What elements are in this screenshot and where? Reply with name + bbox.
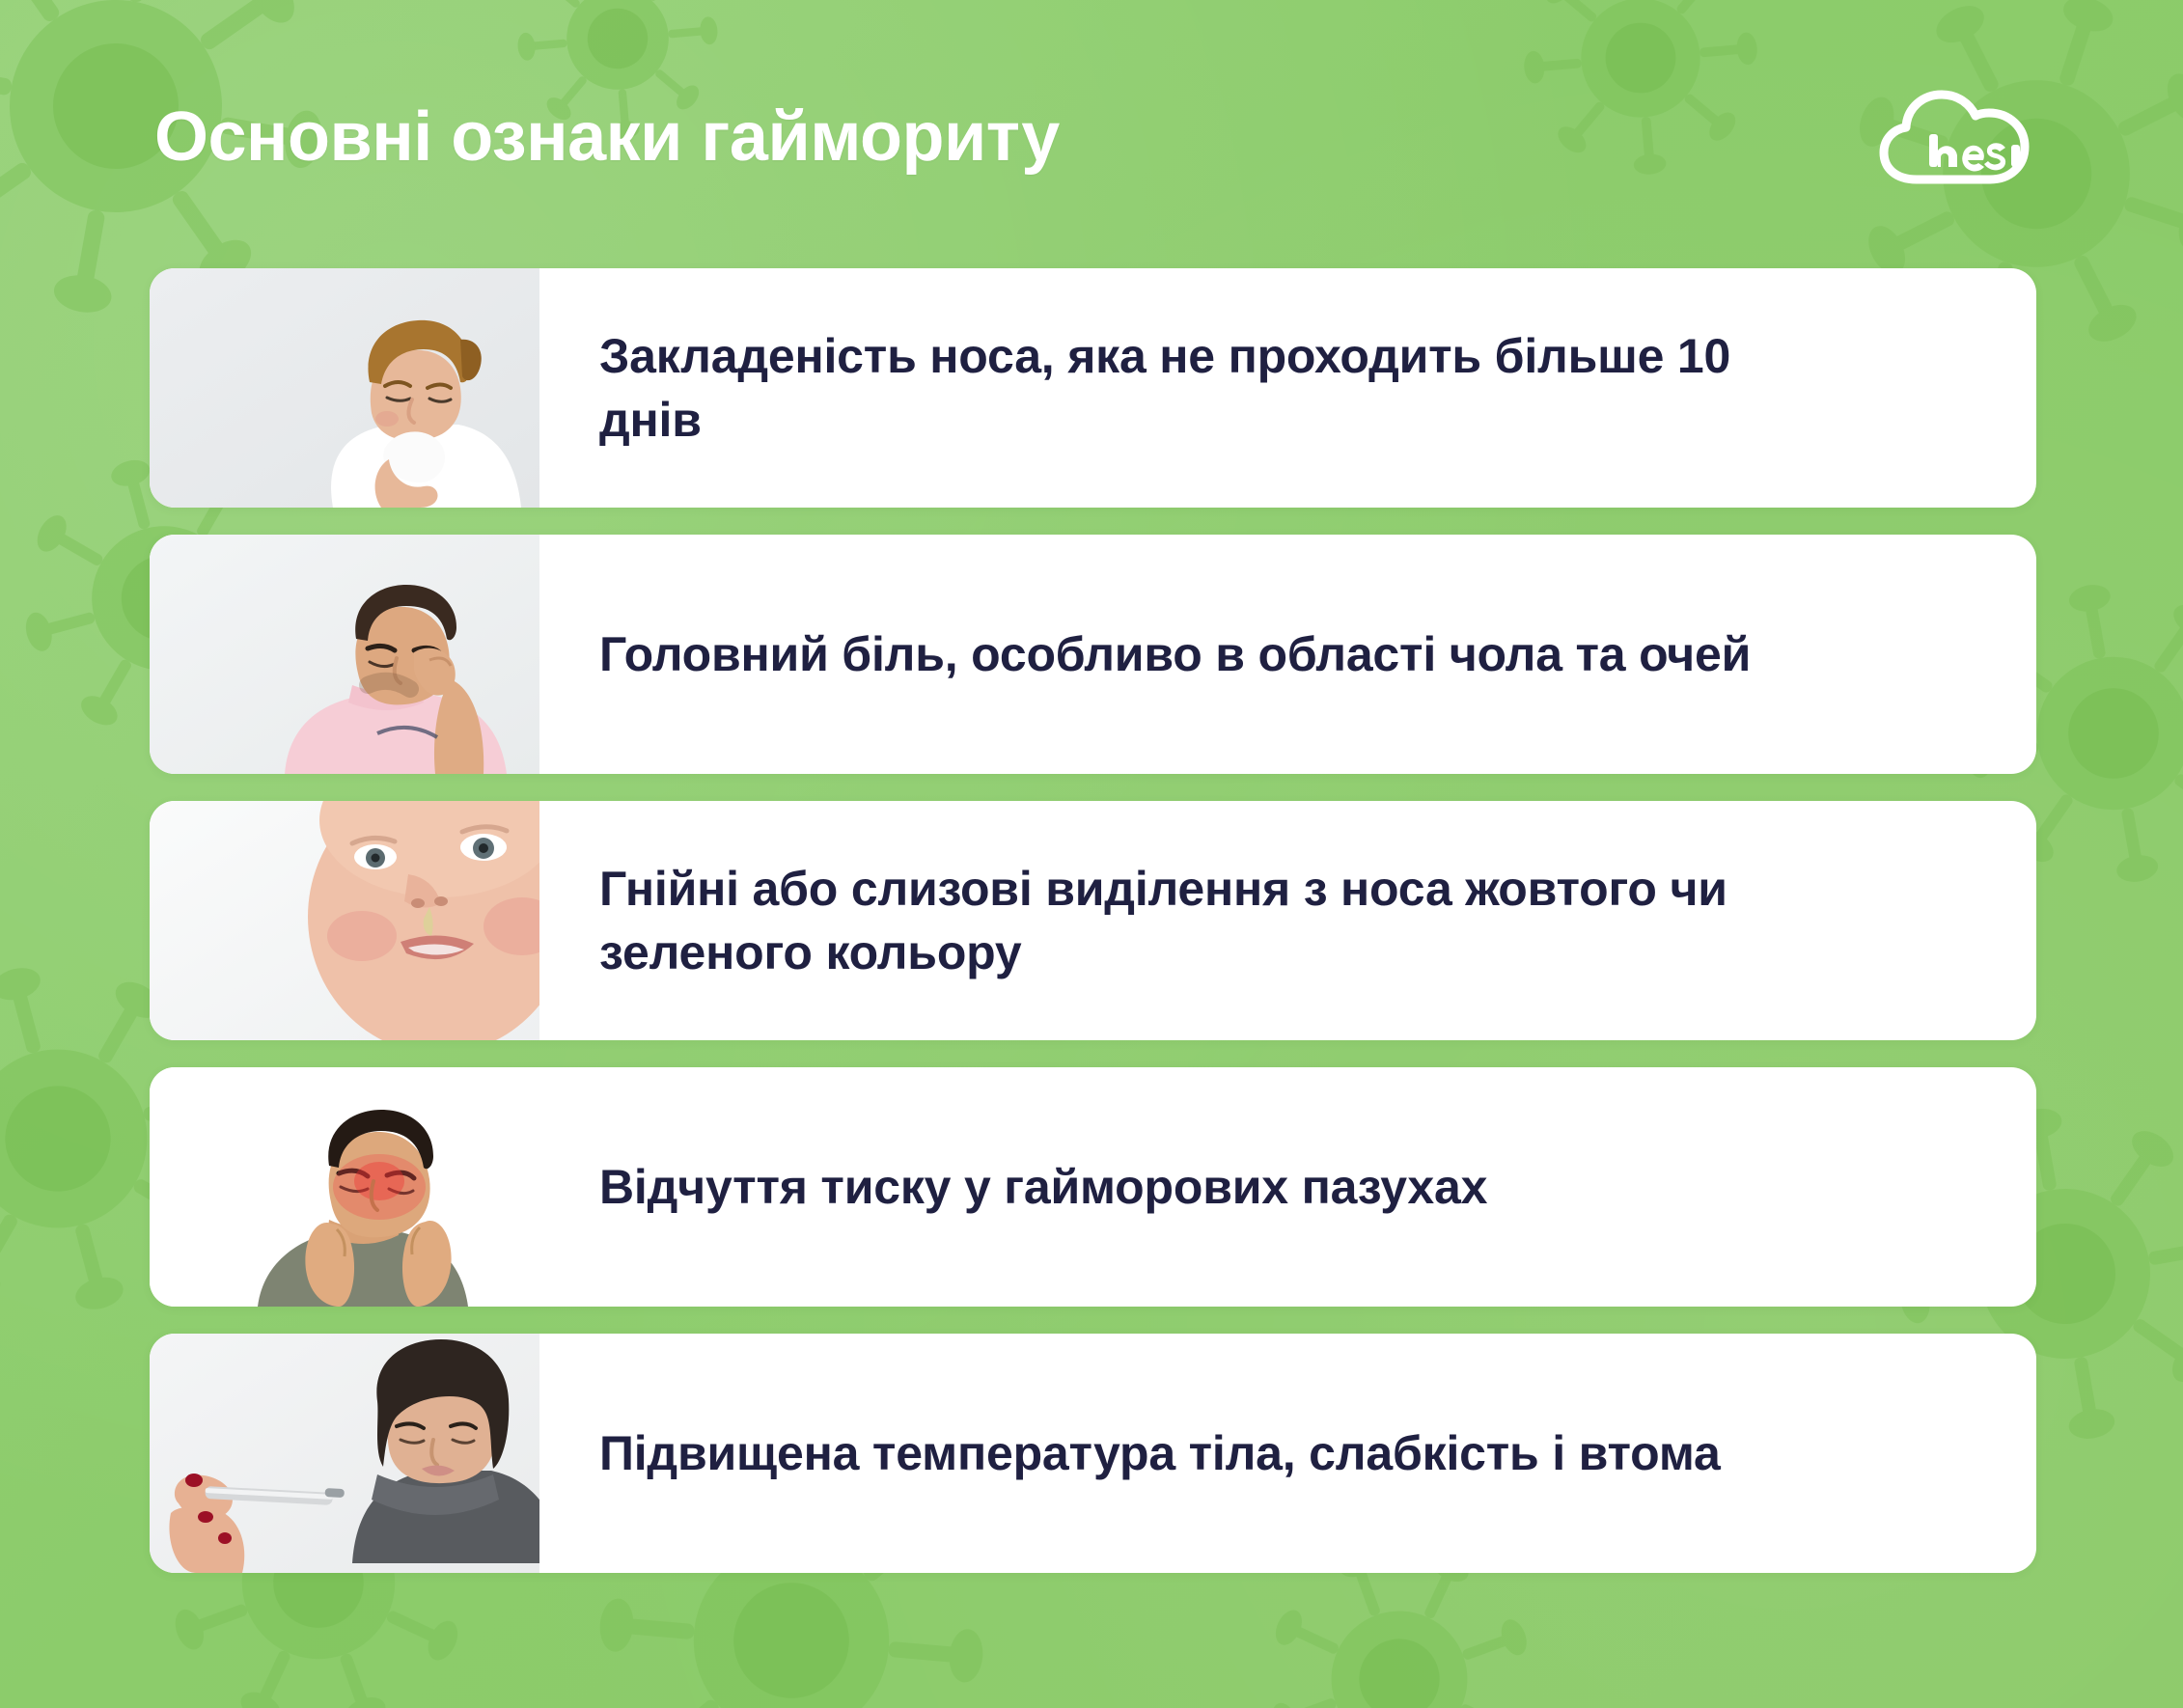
infographic-poster: Основні ознаки гаймориту [0, 0, 2183, 1708]
symptom-text: Відчуття тиску у гайморових пазухах [599, 1155, 1487, 1219]
symptom-card: Підвищена температура тіла, слабкість і … [150, 1334, 2036, 1573]
symptom-text: Закладеність носа, яка не проходить біль… [599, 324, 1844, 452]
symptom-card: Головний біль, особливо в області чола т… [150, 535, 2036, 774]
symptom-card: Гнійні або слизові виділення з носа жовт… [150, 801, 2036, 1040]
symptom-text-wrapper: Підвищена температура тіла, слабкість і … [539, 1334, 2036, 1573]
symptom-text: Гнійні або слизові виділення з носа жовт… [599, 857, 1844, 984]
symptom-photo-woman-blowing-nose [150, 268, 539, 508]
symptom-card: Закладеність носа, яка не проходить біль… [150, 268, 2036, 508]
symptom-card-list: Закладеність носа, яка не проходить біль… [150, 268, 2036, 1573]
symptom-text-wrapper: Закладеність носа, яка не проходить біль… [539, 268, 2036, 508]
page-title: Основні ознаки гаймориту [154, 101, 1060, 175]
symptom-photo-man-pressing-sinuses [150, 1067, 539, 1307]
symptom-photo-baby-runny-nose [150, 801, 539, 1040]
symptom-photo-man-pinching-nose [150, 535, 539, 774]
poster-header: Основні ознаки гаймориту [154, 85, 2048, 191]
symptom-text-wrapper: Головний біль, особливо в області чола т… [539, 535, 2036, 774]
symptom-text-wrapper: Гнійні або слизові виділення з носа жовт… [539, 801, 2036, 1040]
helsi-cloud-logo[interactable] [1874, 87, 2038, 189]
symptom-text-wrapper: Відчуття тиску у гайморових пазухах [539, 1067, 2036, 1307]
symptom-photo-woman-thermometer [150, 1334, 539, 1573]
symptom-text: Головний біль, особливо в області чола т… [599, 622, 1751, 686]
symptom-text: Підвищена температура тіла, слабкість і … [599, 1421, 1721, 1485]
symptom-card: Відчуття тиску у гайморових пазухах [150, 1067, 2036, 1307]
